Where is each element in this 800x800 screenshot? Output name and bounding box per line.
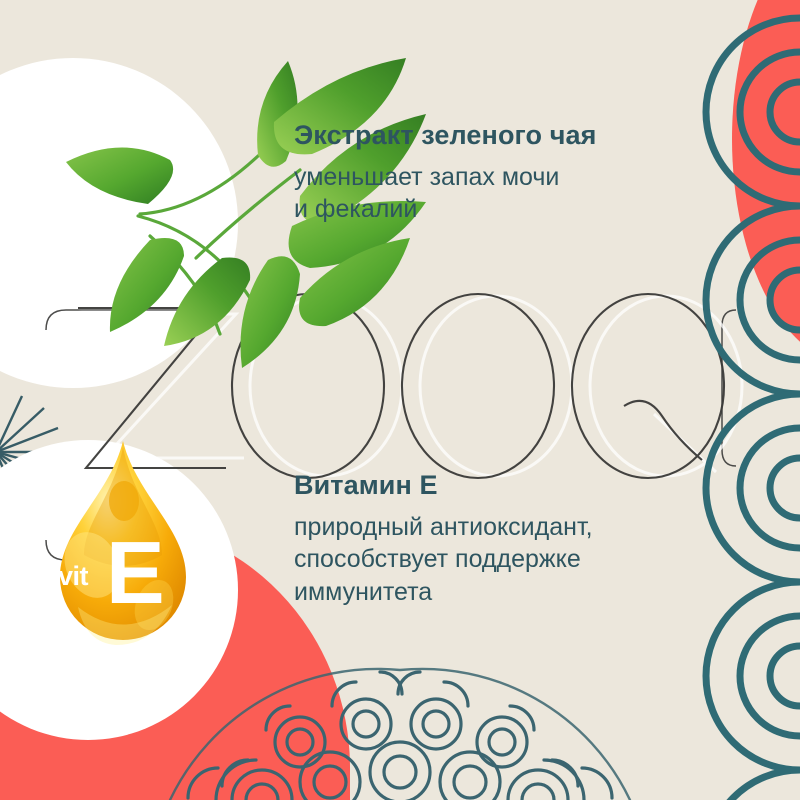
- vitamin-e-subline-3: иммунитета: [294, 576, 714, 609]
- vitamin-e-text-block: Витамин Е природный антиоксидант, способ…: [294, 470, 714, 608]
- drop-vit-label: vit: [58, 563, 88, 590]
- green-tea-subline-1: уменьшает запах мочи: [294, 161, 714, 194]
- vitamin-e-subline-1: природный антиоксидант,: [294, 511, 714, 544]
- vitamin-e-headline: Витамин Е: [294, 470, 714, 502]
- green-tea-subline-2: и фекалий: [294, 193, 714, 226]
- green-tea-text-block: Экстракт зеленого чая уменьшает запах мо…: [294, 120, 714, 226]
- promo-banner: vit E: [0, 0, 800, 800]
- drop-e-label: E: [106, 529, 163, 617]
- vitamin-e-subline-2: способствует поддержке: [294, 543, 714, 576]
- green-tea-headline: Экстракт зеленого чая: [294, 120, 714, 152]
